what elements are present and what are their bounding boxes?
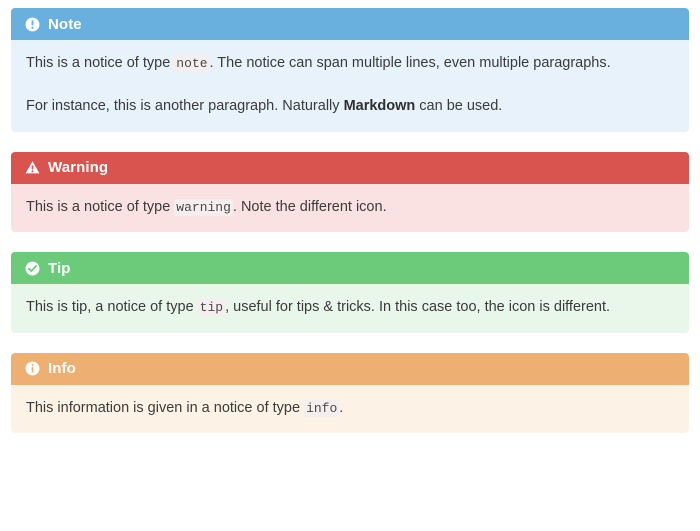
notice-body-note: This is a notice of type note. The notic… [11,40,689,132]
notice-body-warning: This is a notice of type warning. Note t… [11,184,689,232]
body-text: , useful for tips & tricks. In this case… [225,299,610,315]
notice-body-tip: This is tip, a notice of type tip, usefu… [11,284,689,332]
notice-note: Note This is a notice of type note. The … [11,8,689,132]
body-text: This is a notice of type [26,199,174,215]
notice-paragraph: This is a notice of type warning. Note t… [26,196,674,218]
body-text: This is a notice of type [26,55,174,71]
notice-warning: Warning This is a notice of type warning… [11,152,689,232]
notice-header-info: Info [11,353,689,385]
body-text: For instance, this is another paragraph.… [26,98,344,114]
body-text: . [339,400,343,416]
check-circle-icon [25,261,40,276]
body-text: This information is given in a notice of… [26,400,304,416]
notice-body-info: This information is given in a notice of… [11,385,689,433]
notice-info: Info This information is given in a noti… [11,353,689,433]
notice-title: Warning [48,159,108,176]
notices-page: Note This is a notice of type note. The … [0,0,700,531]
notice-header-tip: Tip [11,252,689,284]
notice-paragraph: This is a notice of type note. The notic… [26,52,674,74]
inline-code: note [174,55,209,72]
notice-tip: Tip This is tip, a notice of type tip, u… [11,252,689,332]
notice-paragraph: For instance, this is another paragraph.… [26,95,674,117]
bold-text: Markdown [344,98,416,114]
body-text: . Note the different icon. [233,199,387,215]
notice-title: Note [48,16,82,33]
notice-title: Info [48,360,76,377]
notice-paragraph: This is tip, a notice of type tip, usefu… [26,296,674,318]
notice-paragraph: This information is given in a notice of… [26,397,674,419]
inline-code: warning [174,199,233,216]
inline-code: info [304,400,339,417]
notice-header-warning: Warning [11,152,689,184]
notice-title: Tip [48,260,71,277]
body-text: . The notice can span multiple lines, ev… [210,55,611,71]
warning-triangle-icon [25,160,40,175]
notice-header-note: Note [11,8,689,40]
exclamation-circle-icon [25,17,40,32]
info-circle-icon [25,361,40,376]
inline-code: tip [198,299,225,316]
body-text: can be used. [415,98,502,114]
body-text: This is tip, a notice of type [26,299,198,315]
